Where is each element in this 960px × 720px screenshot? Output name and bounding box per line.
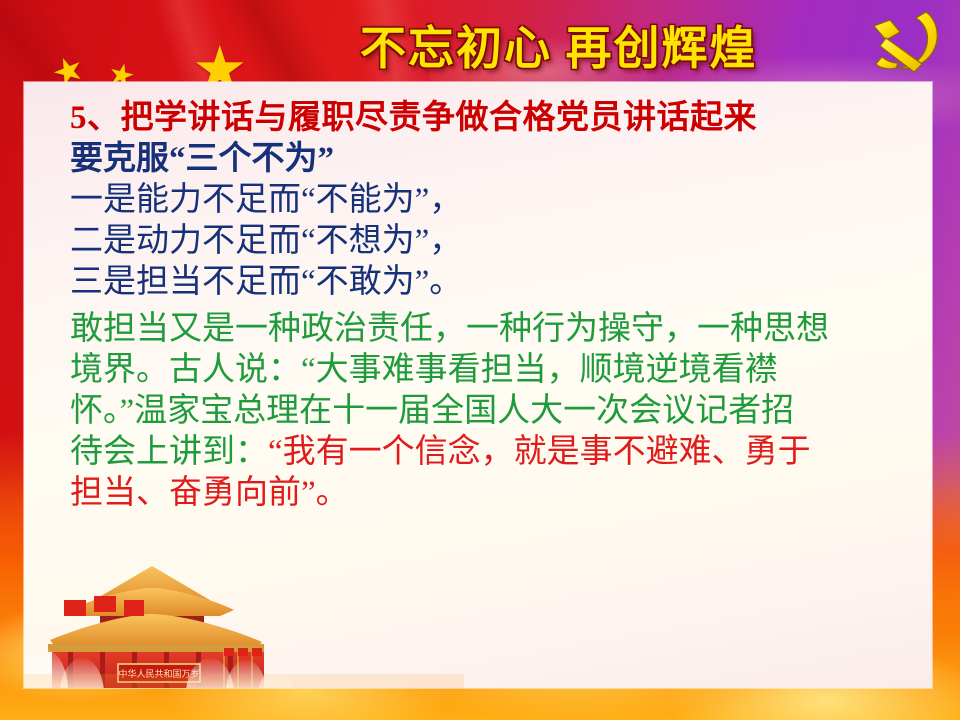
- tiananmen-gate-illustration: 中华人民共和国万岁: [24, 544, 464, 688]
- content-panel: 中华人民共和国万岁: [24, 82, 932, 688]
- body-line-para-1: 敢担当又是一种政治责任，一种行为操守，一种思想: [70, 309, 932, 350]
- hammer-and-sickle-emblem: [856, 2, 956, 82]
- body-line-para-5-red: 担当、奋勇向前”。: [70, 475, 349, 511]
- presentation-slide: ★ ★ ★ 不忘初心 再创辉煌: [0, 0, 960, 720]
- body-line-para-2: 境界。古人说：“大事难事看担当，顺境逆境看襟: [70, 350, 932, 391]
- body-line-para-5: 担当、奋勇向前”。: [70, 473, 932, 514]
- slide-body-text: 5、把学讲话与履职尽责争做合格党员讲话起来 要克服“三个不为” 一是能力不足而“…: [70, 98, 932, 514]
- banner-title: 不忘初心 再创辉煌: [360, 12, 758, 78]
- body-line-para-4-green: 待会上讲到：: [70, 434, 268, 470]
- body-line-para-3: 怀。”温家宝总理在十一届全国人大一次会议记者招: [70, 391, 932, 432]
- body-line-para-4-red: “我有一个信念，就是事不避难、勇于: [268, 434, 811, 470]
- body-line-point-3: 三是担当不足而“不敢为”。: [70, 262, 932, 303]
- body-line-point-2: 二是动力不足而“不想为”，: [70, 221, 932, 262]
- body-line-heading: 5、把学讲话与履职尽责争做合格党员讲话起来: [70, 98, 932, 139]
- body-line-point-1: 一是能力不足而“不能为”，: [70, 180, 932, 221]
- body-line-subhead: 要克服“三个不为”: [70, 139, 932, 180]
- slide-header: 不忘初心 再创辉煌: [0, 0, 960, 84]
- body-line-para-4: 待会上讲到：“我有一个信念，就是事不避难、勇于: [70, 432, 932, 473]
